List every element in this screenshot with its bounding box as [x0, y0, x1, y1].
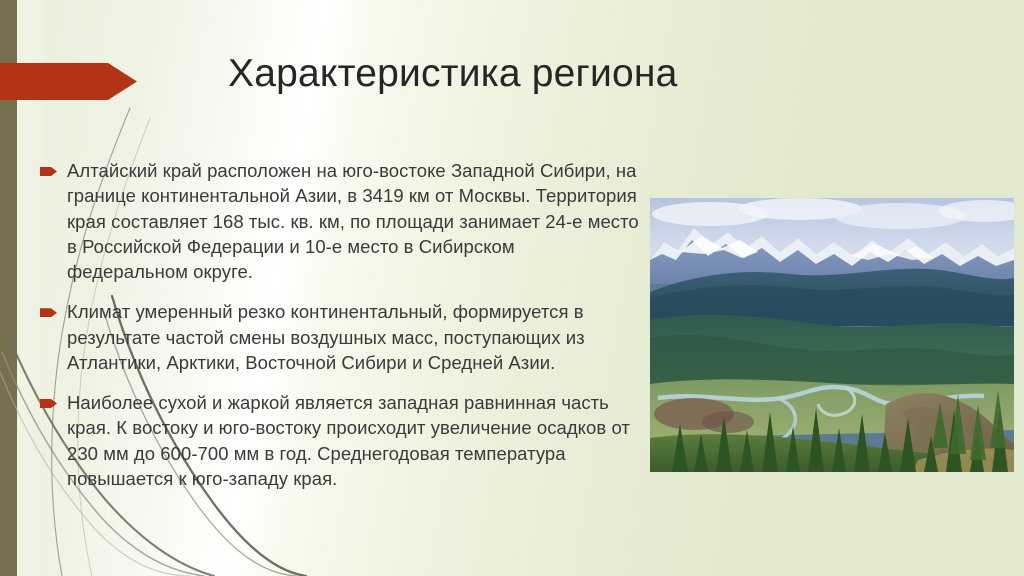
list-item: Наиболее сухой и жаркой является западна… — [40, 390, 640, 491]
list-item: Климат умеренный резко континентальный, … — [40, 299, 640, 375]
title-accent-arrow — [0, 63, 137, 100]
landscape-photo-canvas — [650, 198, 1014, 472]
bullet-text-3: Наиболее сухой и жаркой является западна… — [67, 390, 640, 491]
red-arrow-bullet-icon — [40, 399, 57, 408]
landscape-photo — [650, 198, 1014, 472]
bullet-text-2: Климат умеренный резко континентальный, … — [67, 299, 640, 375]
page-title: Характеристика региона — [228, 52, 928, 97]
bullet-list: Алтайский край расположен на юго-востоке… — [40, 158, 640, 491]
list-item: Алтайский край расположен на юго-востоке… — [40, 158, 640, 284]
red-arrow-bullet-icon — [40, 167, 57, 176]
bullet-text-1: Алтайский край расположен на юго-востоке… — [67, 158, 640, 284]
red-arrow-bullet-icon — [40, 308, 57, 317]
